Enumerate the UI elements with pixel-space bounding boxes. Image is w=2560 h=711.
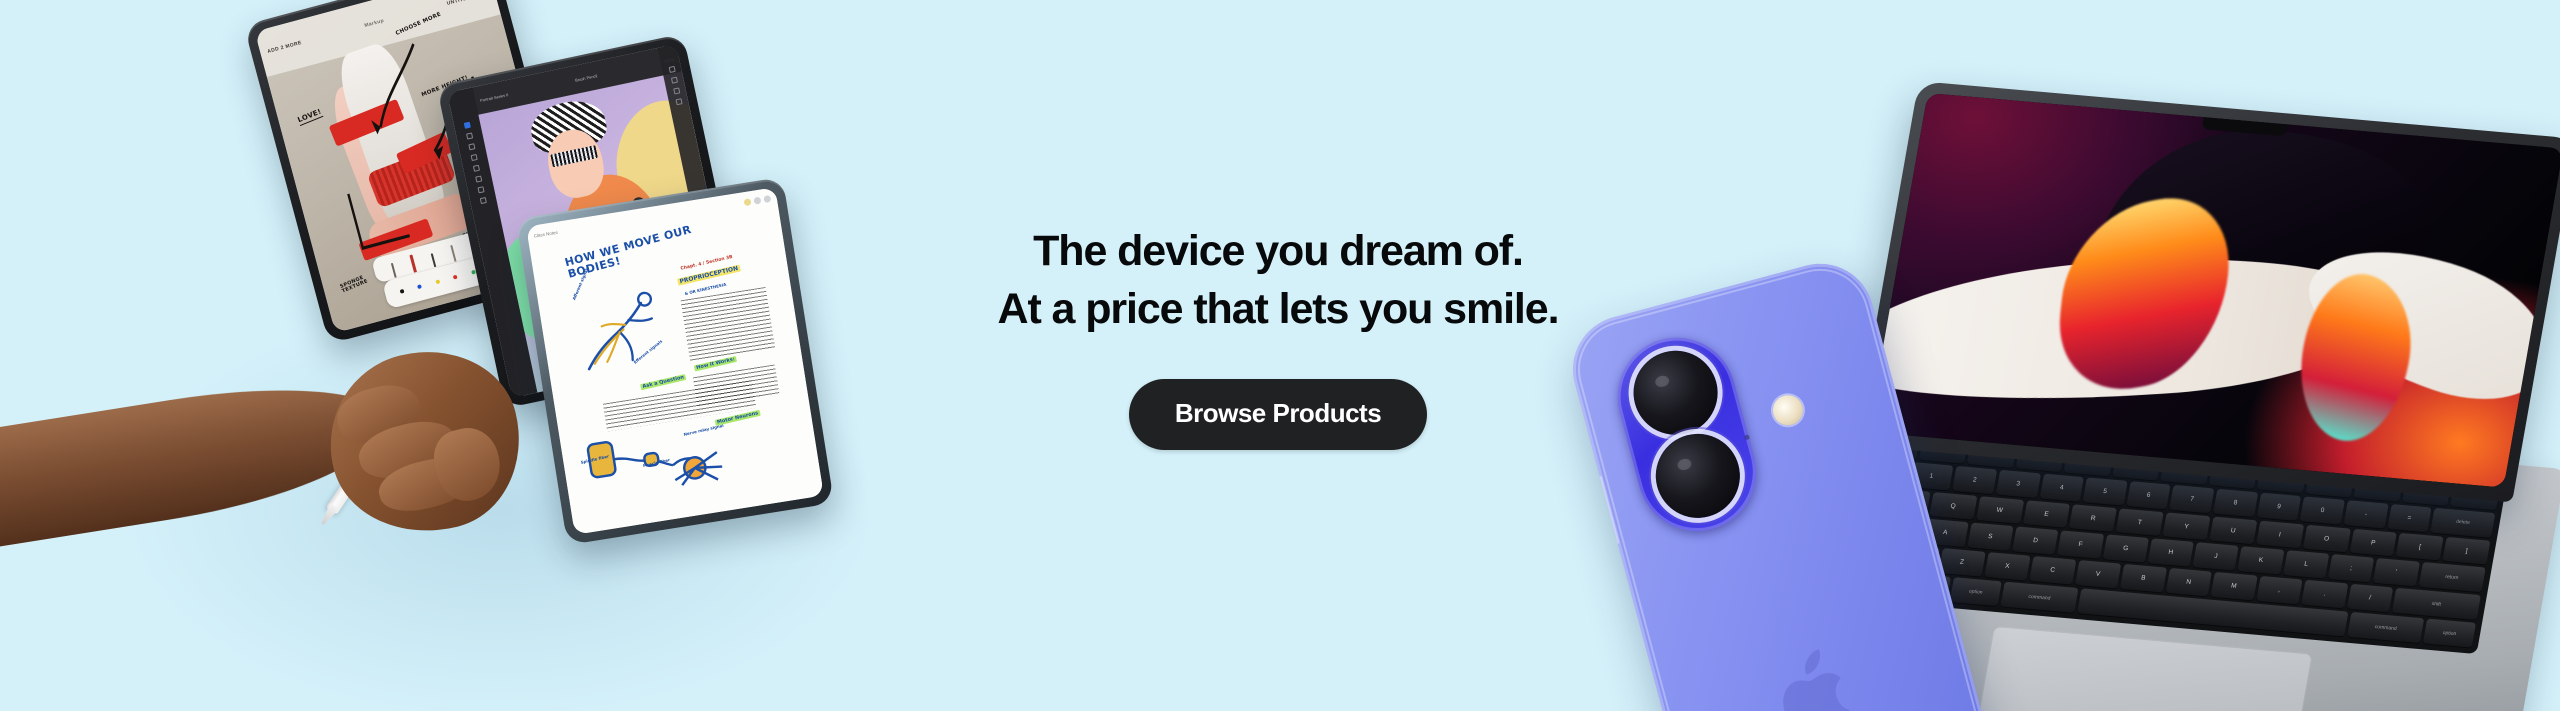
key-i[interactable]: I <box>2256 520 2304 548</box>
tablet-bezel: Class Notes HOW WE MOVE OUR BODIES! Chap… <box>516 177 834 545</box>
headline-line-2: At a price that lets you smile. <box>998 280 1559 338</box>
key-q[interactable]: Q <box>1929 492 1977 520</box>
apple-logo <box>1766 640 1870 711</box>
key-z[interactable]: Z <box>1939 548 1986 576</box>
key-r[interactable]: R <box>2069 504 2117 532</box>
key-9[interactable]: 9 <box>2257 492 2302 520</box>
camera-lens-wide <box>1624 341 1727 444</box>
tool-brush-icon[interactable] <box>466 132 473 139</box>
key-n[interactable]: N <box>2165 568 2212 596</box>
key-x[interactable]: X <box>1984 552 2031 580</box>
key-5[interactable]: 5 <box>2083 477 2128 505</box>
layer-blend-icon[interactable] <box>675 98 682 105</box>
key-period[interactable]: . <box>2301 580 2348 608</box>
key-f[interactable]: F <box>2057 531 2103 559</box>
key-p[interactable]: P <box>2349 528 2397 556</box>
key-d[interactable]: D <box>2012 527 2058 555</box>
key-v[interactable]: V <box>2075 560 2122 588</box>
notes-share-icon[interactable] <box>763 195 771 203</box>
tablet-handwritten-notes[interactable]: Class Notes HOW WE MOVE OUR BODIES! Chap… <box>516 177 834 545</box>
key-command-right[interactable]: command <box>2347 612 2424 643</box>
notes-undo-icon[interactable] <box>753 197 761 205</box>
key-l[interactable]: L <box>2283 551 2329 579</box>
drawing-doc-title: Portrait Series II <box>480 92 509 103</box>
key-b[interactable]: B <box>2120 564 2167 592</box>
key-slash[interactable]: / <box>2347 584 2394 612</box>
key-4[interactable]: 4 <box>2039 473 2084 501</box>
layer-add-icon[interactable] <box>668 66 675 73</box>
tool-text-icon[interactable] <box>475 175 482 182</box>
notes-pen-icon[interactable] <box>744 199 752 207</box>
key-c[interactable]: C <box>2029 556 2076 584</box>
tool-shape-icon[interactable] <box>473 165 480 172</box>
key-minus[interactable]: - <box>2343 500 2388 528</box>
swatch-red[interactable] <box>453 274 458 279</box>
swatch-blue[interactable] <box>417 284 422 289</box>
tool-eraser-icon[interactable] <box>468 143 475 150</box>
key-6[interactable]: 6 <box>2126 481 2171 509</box>
key-8[interactable]: 8 <box>2213 489 2258 517</box>
notes-paragraph-right <box>681 287 775 362</box>
tool-color-icon[interactable] <box>480 197 487 204</box>
key-comma[interactable]: , <box>2256 576 2303 604</box>
key-bracket-left[interactable]: [ <box>2396 533 2444 561</box>
key-0[interactable]: 0 <box>2300 496 2345 524</box>
tool-select-icon[interactable] <box>464 121 471 128</box>
key-shift-right[interactable]: shift <box>2392 588 2481 620</box>
camera-lens-ultrawide <box>1646 424 1749 527</box>
key-t[interactable]: T <box>2116 508 2164 536</box>
tool-fill-icon[interactable] <box>470 154 477 161</box>
key-semicolon[interactable]: ; <box>2328 555 2374 583</box>
browse-products-button[interactable]: Browse Products <box>1129 379 1427 450</box>
key-y[interactable]: Y <box>2163 512 2211 540</box>
key-e[interactable]: E <box>2022 500 2070 528</box>
key-2[interactable]: 2 <box>1952 466 1997 494</box>
key-option-left[interactable]: option <box>1949 577 2002 606</box>
key-m[interactable]: M <box>2211 572 2258 600</box>
headline-line-1: The device you dream of. <box>1033 222 1523 280</box>
notes-back-label[interactable]: Class Notes <box>533 230 558 239</box>
notes-highlight-ask-question: Ask a Question <box>640 374 686 390</box>
key-g[interactable]: G <box>2102 535 2148 563</box>
notes-app: Class Notes HOW WE MOVE OUR BODIES! Chap… <box>526 187 824 535</box>
key-j[interactable]: J <box>2193 543 2239 571</box>
layer-duplicate-icon[interactable] <box>671 77 678 84</box>
tool-marker-icon[interactable] <box>410 255 417 272</box>
key-equals[interactable]: = <box>2387 504 2432 532</box>
key-o[interactable]: O <box>2303 524 2351 552</box>
laptop-display <box>1868 93 2560 488</box>
swatch-black[interactable] <box>399 289 404 294</box>
laptop-trackpad[interactable] <box>1978 626 2313 711</box>
desktop-wallpaper <box>1868 93 2560 488</box>
key-k[interactable]: K <box>2238 547 2284 575</box>
laptop-lid <box>1855 81 2560 502</box>
key-s[interactable]: S <box>1967 523 2013 551</box>
key-command-left[interactable]: command <box>2001 582 2078 613</box>
tool-brush-icon[interactable] <box>450 245 457 261</box>
key-u[interactable]: U <box>2209 516 2257 544</box>
key-quote[interactable]: ' <box>2373 559 2419 587</box>
phone-volume-buttons[interactable] <box>1598 476 1620 545</box>
key-return[interactable]: return <box>2418 562 2486 592</box>
key-h[interactable]: H <box>2147 539 2193 567</box>
drawing-brush-name: Brush Pencil <box>575 73 598 83</box>
key-w[interactable]: W <box>1976 496 2024 524</box>
key-option-right[interactable]: option <box>2423 619 2476 648</box>
key-3[interactable]: 3 <box>1996 470 2041 498</box>
tool-layers-icon[interactable] <box>477 186 484 193</box>
tool-pencil-icon[interactable] <box>391 262 397 277</box>
hero-banner: ADD 2 MORE Markup UNTITLED FILE LOVE! CH… <box>0 0 2560 711</box>
layer-opacity-icon[interactable] <box>673 87 680 94</box>
tablet-screen: Class Notes HOW WE MOVE OUR BODIES! Chap… <box>526 187 824 535</box>
swatch-yellow[interactable] <box>435 279 440 284</box>
key-delete[interactable]: delete <box>2430 508 2495 538</box>
key-bracket-right[interactable]: ] <box>2443 537 2491 565</box>
key-7[interactable]: 7 <box>2170 485 2215 513</box>
tool-pen-icon[interactable] <box>431 253 437 266</box>
camera-flash <box>1770 392 1807 429</box>
